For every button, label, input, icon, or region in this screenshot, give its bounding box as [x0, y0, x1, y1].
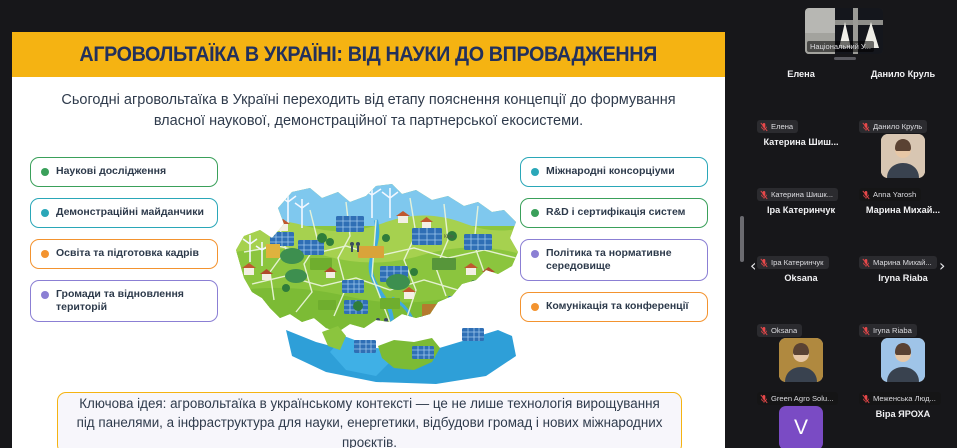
participant-nameplate: Данило Круль [859, 120, 927, 133]
mic-muted-icon [760, 258, 768, 268]
bullet-dot-icon [41, 209, 49, 217]
topic-pill-label: Міжнародні консорціуми [546, 165, 675, 178]
topic-pill-label: R&D і сертифікація систем [546, 206, 685, 219]
participant-tile[interactable]: Катерина Шиш...Катерина Шишк... [757, 134, 845, 202]
presentation-slide: АГРОВОЛЬТАЇКА В УКРАЇНІ: ВІД НАУКИ ДО ВП… [12, 32, 725, 448]
participant-nameplate-label: Катерина Шишк... [771, 190, 833, 199]
participant-name: Катерина Шиш... [757, 137, 845, 147]
participant-nameplate: Елена [757, 120, 798, 133]
participant-tile[interactable]: Іра КатеринчукІра Катеринчук [757, 202, 845, 270]
participant-tile[interactable]: Iryna RiabaIryna Riaba [859, 270, 947, 338]
participant-name: Віра ЯРОХА [859, 409, 947, 419]
participant-tile[interactable]: Меженська Люд...Меженська Люд... [859, 338, 947, 406]
participant-avatar-photo [779, 338, 823, 382]
participant-tile[interactable]: Anna YaroshAnna Yarosh [859, 134, 947, 202]
participant-nameplate-label: Меженська Люд... [873, 394, 936, 403]
topic-pill: Громади та відновлення територій [30, 280, 218, 322]
ukraine-illustrated-map: Київ [226, 180, 528, 388]
topic-pill-label: Освіта та підготовка кадрів [56, 247, 199, 260]
slide-intro-text: Сьогодні агровольтаїка в Україні переход… [42, 90, 695, 132]
participant-name: Oksana [757, 273, 845, 283]
participant-nameplate: Anna Yarosh [859, 188, 921, 201]
bullet-dot-icon [41, 291, 49, 299]
topic-pill: Освіта та підготовка кадрів [30, 239, 218, 269]
participant-name: Елена [757, 69, 845, 79]
bullet-dot-icon [531, 303, 539, 311]
key-idea-text: Ключова ідея: агровольтаїка в українсько… [74, 394, 665, 448]
bullet-dot-icon [531, 209, 539, 217]
participant-avatar-initial: V [779, 406, 823, 448]
mic-muted-icon [862, 258, 870, 268]
mic-muted-icon [760, 326, 768, 336]
participant-name: Iryna Riaba [859, 273, 947, 283]
participant-tile[interactable]: Valeriya Tarasen...VValeriya Tarasen... [757, 406, 845, 448]
topic-pill: Комунікація та конференції [520, 292, 708, 322]
topic-pill-label: Громади та відновлення територій [56, 288, 208, 314]
participant-grid: ЕленаЕленаДанило КрульДанило КрульКатери… [757, 66, 947, 448]
drag-handle[interactable] [834, 57, 856, 60]
participant-name: Іра Катеринчук [757, 205, 845, 215]
bullet-dot-icon [41, 250, 49, 258]
participant-name: Данило Круль [859, 69, 947, 79]
participant-nameplate: Меженська Люд... [859, 392, 941, 405]
topic-pill-label: Наукові дослідження [56, 165, 166, 178]
mic-muted-icon [760, 394, 768, 404]
strip-scrollbar[interactable] [740, 216, 744, 262]
participant-tile[interactable]: ЕленаЕлена [757, 66, 845, 134]
participant-nameplate-label: Green Agro Solu... [771, 394, 833, 403]
topic-pill: Демонстраційні майданчики [30, 198, 218, 228]
key-idea-box: Ключова ідея: агровольтаїка в українсько… [57, 392, 682, 448]
topic-pill-label: Політика та нормативне середовище [546, 247, 698, 273]
active-speaker-video-tile[interactable]: Національний У... [805, 8, 883, 54]
participant-nameplate-label: Oksana [771, 326, 797, 335]
participant-tile[interactable]: Green Agro Solu...Green Agro Solu... [757, 338, 845, 406]
video-tile-name: Національний У... [807, 41, 874, 52]
pill-list-right: Міжнародні консорціумиR&D і сертифікація… [520, 157, 708, 333]
bullet-dot-icon [41, 168, 49, 176]
chevron-left-icon[interactable]: ‹ [750, 258, 756, 274]
mic-muted-icon [862, 394, 870, 404]
participant-tile[interactable]: Віра ЯРОХАВіра ЯРОХА [859, 406, 947, 448]
topic-pill-label: Комунікація та конференції [546, 300, 689, 313]
meeting-screen: АГРОВОЛЬТАЇКА В УКРАЇНІ: ВІД НАУКИ ДО ВП… [0, 0, 957, 448]
participant-strip[interactable]: ‹ › Національний У... ЕленаЕленаДанило К… [737, 0, 957, 448]
topic-pill-label: Демонстраційні майданчики [56, 206, 204, 219]
participant-tile[interactable]: Марина Михай...Марина Михай... [859, 202, 947, 270]
slide-title-banner: АГРОВОЛЬТАЇКА В УКРАЇНІ: ВІД НАУКИ ДО ВП… [12, 32, 725, 77]
participant-nameplate: Iryna Riaba [859, 324, 917, 337]
pill-list-left: Наукові дослідженняДемонстраційні майдан… [30, 157, 218, 333]
svg-text:Київ: Київ [444, 234, 454, 240]
participant-tile[interactable]: Данило КрульДанило Круль [859, 66, 947, 134]
topic-pill: Політика та нормативне середовище [520, 239, 708, 281]
mic-muted-icon [862, 326, 870, 336]
mic-muted-icon [760, 122, 768, 132]
participant-nameplate-label: Марина Михай... [873, 258, 932, 267]
participant-nameplate: Марина Михай... [859, 256, 937, 269]
participant-tile[interactable]: OksanaOksana [757, 270, 845, 338]
participant-avatar-photo [881, 338, 925, 382]
participant-nameplate-label: Anna Yarosh [873, 190, 916, 199]
participant-nameplate: Oksana [757, 324, 802, 337]
topic-pill: Міжнародні консорціуми [520, 157, 708, 187]
mic-muted-icon [862, 190, 870, 200]
bullet-dot-icon [531, 250, 539, 258]
participant-nameplate-label: Данило Круль [873, 122, 922, 131]
mic-muted-icon [760, 190, 768, 200]
participant-nameplate-label: Елена [771, 122, 793, 131]
mic-muted-icon [862, 122, 870, 132]
shared-screen-area[interactable]: АГРОВОЛЬТАЇКА В УКРАЇНІ: ВІД НАУКИ ДО ВП… [0, 0, 737, 448]
page-title: АГРОВОЛЬТАЇКА В УКРАЇНІ: ВІД НАУКИ ДО ВП… [80, 43, 658, 67]
participant-nameplate-label: Іра Катеринчук [771, 258, 824, 267]
bullet-dot-icon [531, 168, 539, 176]
participant-name: Марина Михай... [859, 205, 947, 215]
participant-nameplate: Катерина Шишк... [757, 188, 838, 201]
topic-pill: Наукові дослідження [30, 157, 218, 187]
participant-nameplate: Green Agro Solu... [757, 392, 838, 405]
participant-avatar-photo [881, 134, 925, 178]
participant-nameplate-label: Iryna Riaba [873, 326, 912, 335]
topic-pill: R&D і сертифікація систем [520, 198, 708, 228]
participant-nameplate: Іра Катеринчук [757, 256, 829, 269]
